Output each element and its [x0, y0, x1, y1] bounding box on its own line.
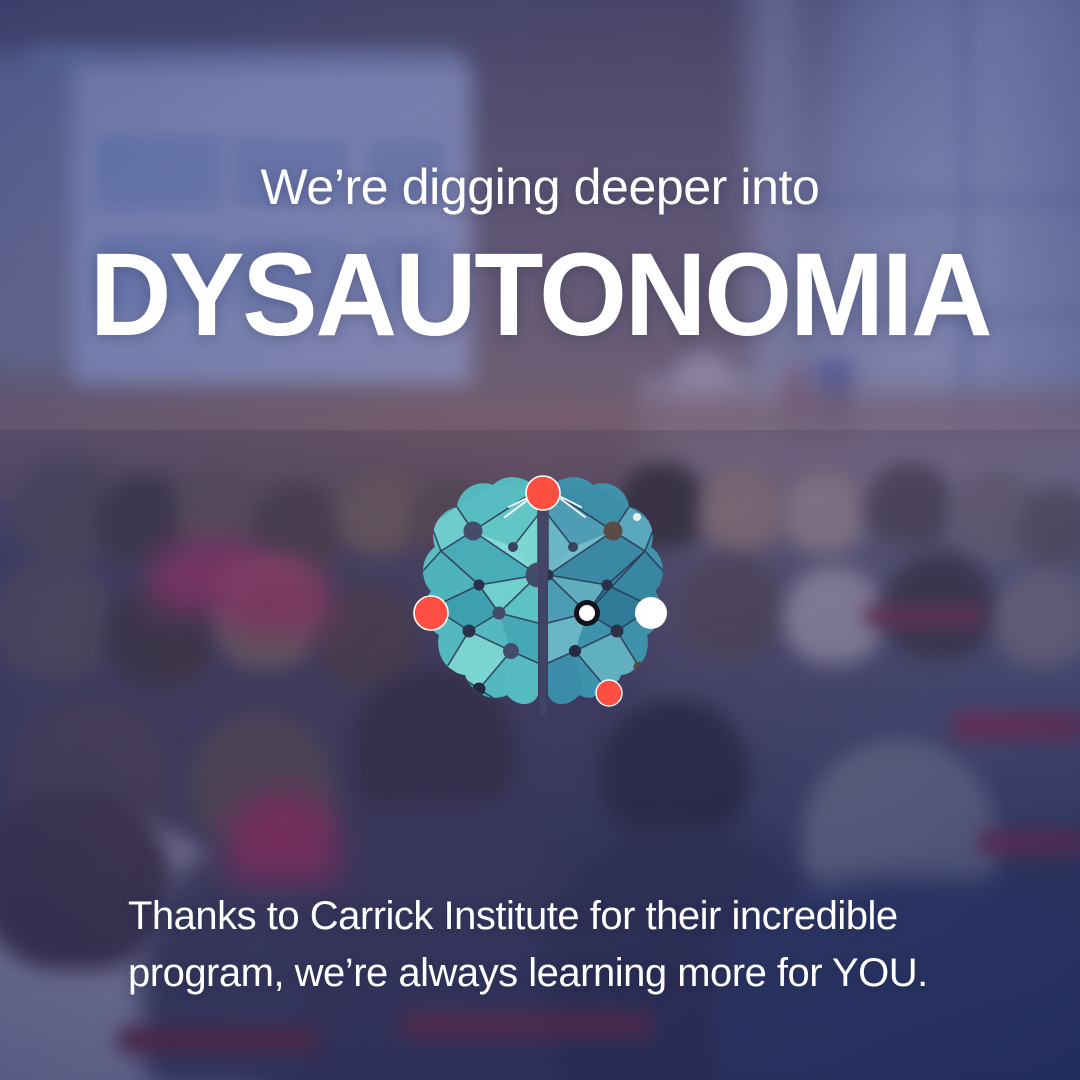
- central-fissure: [540, 481, 547, 717]
- network-node: [602, 580, 613, 591]
- network-node: [474, 580, 485, 591]
- network-node: [463, 625, 476, 638]
- eyebrow-text: We’re digging deeper into: [0, 160, 1080, 215]
- node-ringed-white: [579, 605, 595, 621]
- network-node: [569, 645, 581, 657]
- network-node: [633, 513, 641, 521]
- network-node: [473, 683, 486, 696]
- network-node: [493, 607, 506, 620]
- node-bottom-red: [596, 680, 622, 706]
- node-left-red: [414, 596, 448, 630]
- network-node: [503, 643, 519, 659]
- social-graphic: We’re digging deeper into DYSAUTONOMIA T…: [0, 0, 1080, 1080]
- network-node: [464, 522, 483, 541]
- brain-network-logo: [413, 455, 673, 735]
- page-title: DYSAUTONOMIA: [22, 236, 1059, 354]
- caption-text: Thanks to Carrick Institute for their in…: [128, 888, 968, 1002]
- network-node: [568, 542, 578, 552]
- node-top-red: [526, 476, 560, 510]
- node-right-white: [635, 597, 667, 629]
- network-node: [634, 662, 645, 673]
- brain-logo-svg: [413, 455, 673, 735]
- network-node: [508, 542, 518, 552]
- network-node: [604, 522, 623, 541]
- network-node: [526, 563, 551, 588]
- network-node: [611, 625, 624, 638]
